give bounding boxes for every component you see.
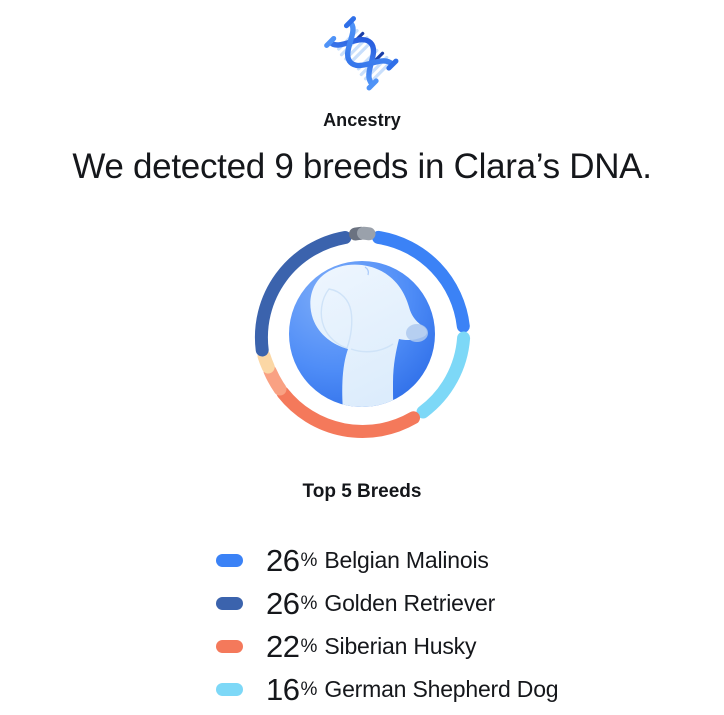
list-item[interactable]: 16 % German Shepherd Dog bbox=[216, 668, 558, 711]
legend-percent-symbol: % bbox=[300, 594, 317, 613]
legend-breed-name: Golden Retriever bbox=[324, 592, 495, 615]
legend-breed-name: German Shepherd Dog bbox=[324, 678, 558, 701]
dna-helix-icon bbox=[314, 6, 410, 102]
legend-color-pill bbox=[216, 554, 243, 567]
breed-donut-chart bbox=[247, 223, 477, 445]
legend-percent-value: 22 bbox=[266, 631, 299, 662]
legend-percent-value: 16 bbox=[266, 674, 299, 705]
legend-percent-value: 26 bbox=[266, 545, 299, 576]
donut-segment-other-mid bbox=[270, 371, 280, 389]
donut-center-graphic bbox=[289, 261, 435, 413]
list-item[interactable]: 26 % Golden Retriever bbox=[216, 582, 495, 625]
breed-legend-list: 26 % Belgian Malinois 26 % Golden Retrie… bbox=[0, 539, 724, 711]
ancestry-report-page: Ancestry We detected 9 breeds in Clara’s… bbox=[0, 0, 724, 715]
legend-percent-symbol: % bbox=[300, 551, 317, 570]
legend-percent-symbol: % bbox=[300, 637, 317, 656]
legend-breed-name: Siberian Husky bbox=[324, 635, 476, 658]
legend-percent-symbol: % bbox=[300, 680, 317, 699]
list-item[interactable]: 26 % Belgian Malinois bbox=[216, 539, 489, 582]
legend-color-pill bbox=[216, 640, 243, 653]
section-eyebrow-label: Ancestry bbox=[323, 110, 401, 131]
legend-breed-name: Belgian Malinois bbox=[324, 549, 488, 572]
legend-color-pill bbox=[216, 683, 243, 696]
legend-color-pill bbox=[216, 597, 243, 610]
donut-segment-supermutt-light bbox=[364, 233, 370, 234]
breeds-section-title: Top 5 Breeds bbox=[303, 481, 422, 503]
legend-percent-value: 26 bbox=[266, 588, 299, 619]
page-title: We detected 9 breeds in Clara’s DNA. bbox=[72, 147, 651, 187]
donut-segment-other-light bbox=[264, 356, 268, 367]
list-item[interactable]: 22 % Siberian Husky bbox=[216, 625, 476, 668]
